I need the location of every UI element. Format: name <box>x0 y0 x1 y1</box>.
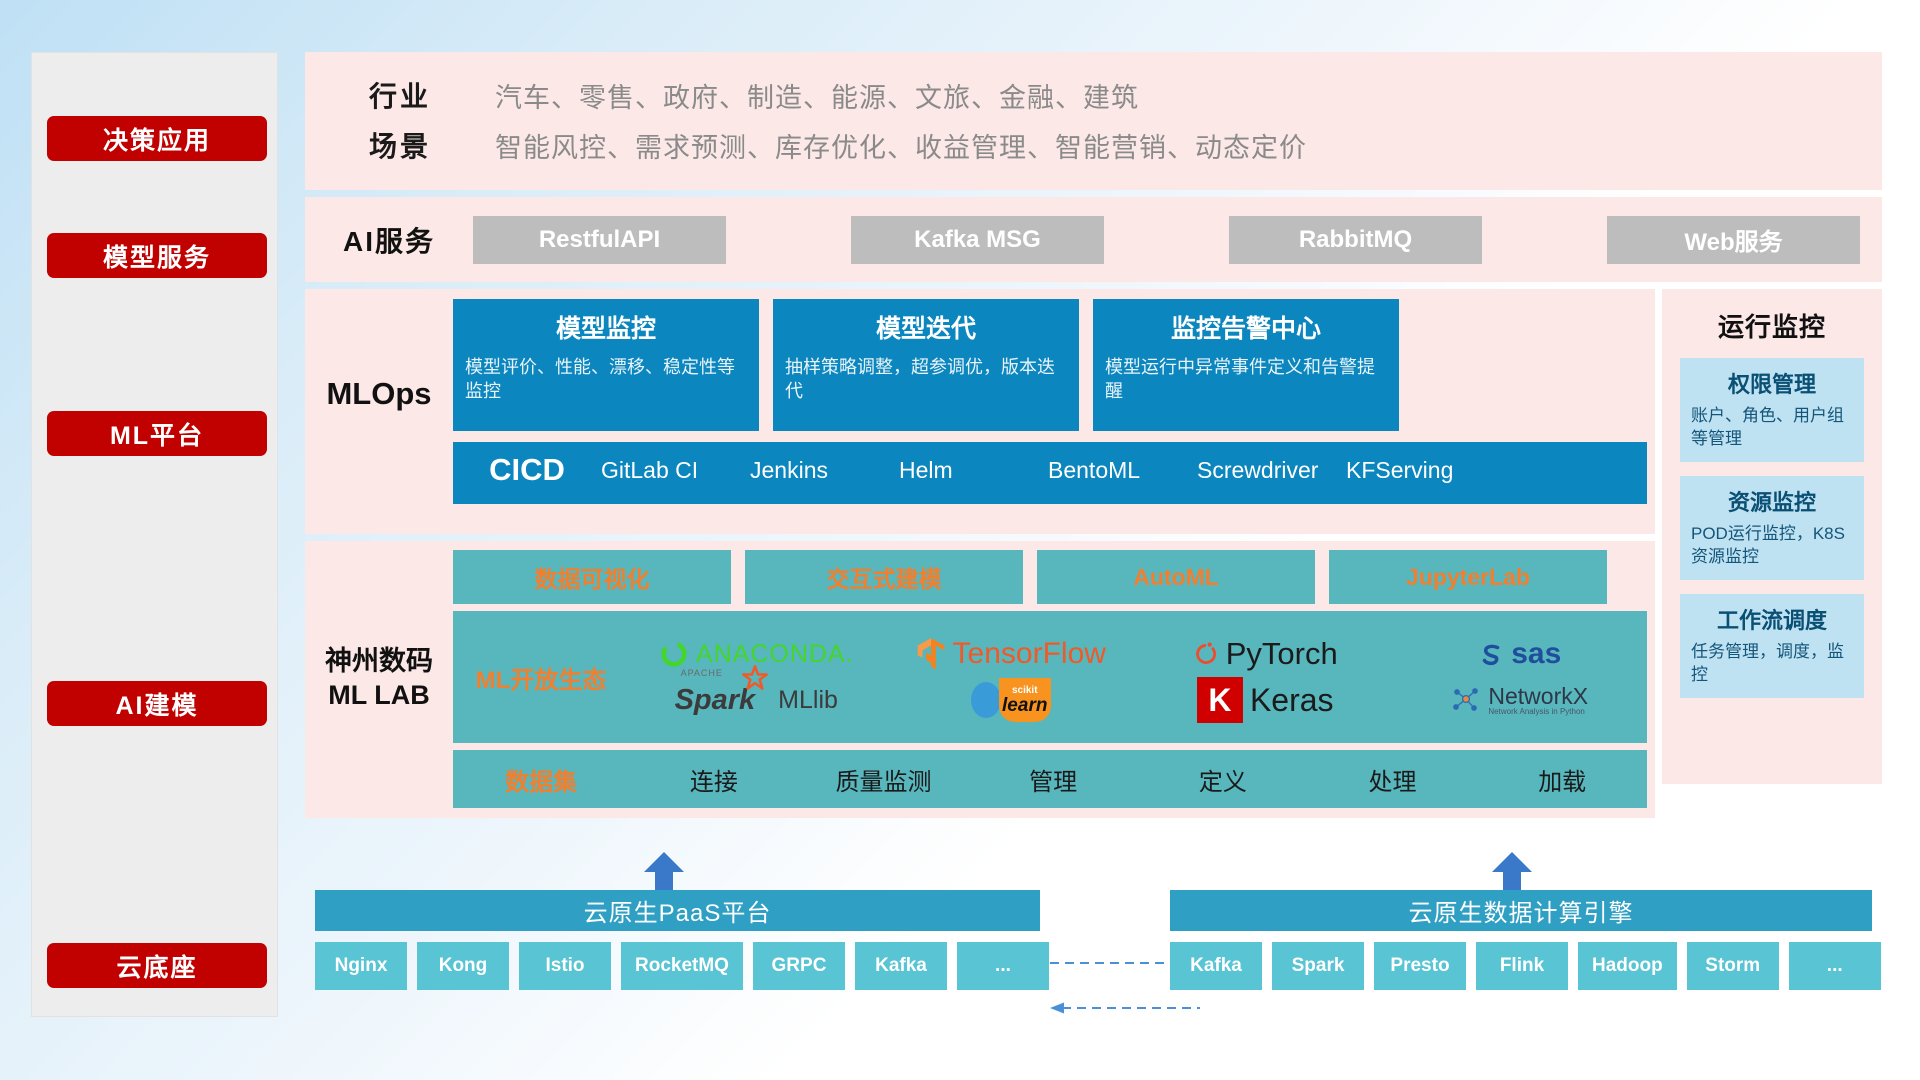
mlops-card-desc: 抽样策略调整，超参调优，版本迭代 <box>785 355 1067 404</box>
mode-list: 数据可视化 交互式建模 AutoML JupyterLab <box>453 550 1647 604</box>
dataset-item[interactable]: 质量监测 <box>799 762 969 797</box>
ai-service-chip[interactable]: RabbitMQ <box>1229 216 1482 264</box>
learn-label: learn <box>1002 696 1047 715</box>
cicd-tool[interactable]: BentoML <box>1048 442 1197 484</box>
mode-item[interactable]: JupyterLab <box>1329 550 1607 604</box>
dataset-item[interactable]: 管理 <box>968 762 1138 797</box>
engine-tag[interactable]: ... <box>1789 942 1881 990</box>
cicd-tool[interactable]: Helm <box>899 442 1048 484</box>
platform-and-monitor: MLOps 模型监控 模型评价、性能、漂移、稳定性等监控 模型迭代 抽样策略调整… <box>305 289 1882 818</box>
mlops-card[interactable]: 模型监控 模型评价、性能、漂移、稳定性等监控 <box>453 299 759 431</box>
ml-lab-label: 神州数码 ML LAB <box>305 550 453 808</box>
logo-grid: ANACONDA. TensorFlow <box>629 631 1647 723</box>
spark-mllib-icon: APACHE Spark MLlib <box>629 684 884 717</box>
cicd-bar: CICD GitLab CI Jenkins Helm BentoML Scre… <box>453 442 1647 504</box>
monitor-card-desc: POD运行监控，K8S资源监控 <box>1691 523 1853 569</box>
ml-ecosystem-bar: ML开放生态 ANACONDA. <box>453 611 1647 743</box>
ml-lab-label-line2: ML LAB <box>328 679 430 713</box>
keras-label: Keras <box>1250 682 1334 719</box>
mlops-card[interactable]: 模型迭代 抽样策略调整，超参调优，版本迭代 <box>773 299 1079 431</box>
dataset-item[interactable]: 加载 <box>1477 762 1647 797</box>
dataset-items: 连接 质量监测 管理 定义 处理 加载 <box>629 762 1647 797</box>
tensorflow-label: TensorFlow <box>953 637 1106 671</box>
architecture-diagram: 决策应用 模型服务 ML平台 AI建模 云底座 行业 汽车、零售、政府、制造、能… <box>0 0 1920 1080</box>
rail-item-ml-platform[interactable]: ML平台 <box>47 411 267 456</box>
mode-item[interactable]: 数据可视化 <box>453 550 731 604</box>
rail-label: 模型服务 <box>103 238 211 274</box>
pytorch-icon: PyTorch <box>1138 636 1393 672</box>
ai-service-chips: RestfulAPI Kafka MSG RabbitMQ Web服务 <box>473 216 1882 264</box>
engine-tag[interactable]: Storm <box>1687 942 1779 990</box>
rail-item-ai-modeling[interactable]: AI建模 <box>47 681 267 726</box>
mlops-card-desc: 模型运行中异常事件定义和告警提醒 <box>1105 355 1387 404</box>
engine-tag[interactable]: Flink <box>1476 942 1568 990</box>
mlops-card-title: 模型监控 <box>465 309 747 345</box>
mlops-card-list: 模型监控 模型评价、性能、漂移、稳定性等监控 模型迭代 抽样策略调整，超参调优，… <box>453 299 1655 431</box>
run-monitor-title: 运行监控 <box>1662 289 1882 344</box>
scikit-badge: scikit learn <box>999 678 1051 722</box>
dataset-bar: 数据集 连接 质量监测 管理 定义 处理 加载 <box>453 750 1647 808</box>
rail-label: AI建模 <box>115 686 198 722</box>
engine-tag[interactable]: Spark <box>1272 942 1364 990</box>
scikit-label: scikit <box>1012 686 1038 696</box>
ai-service-chip[interactable]: Web服务 <box>1607 216 1860 264</box>
cloud-foundation-section: 云原生PaaS平台 云原生数据计算引擎 Nginx Kong Istio Roc… <box>305 890 1882 1020</box>
cicd-tool[interactable]: KFServing <box>1346 442 1495 484</box>
paas-tag[interactable]: RocketMQ <box>621 942 743 990</box>
anaconda-label: ANACONDA. <box>696 640 854 669</box>
ai-service-chip[interactable]: Kafka MSG <box>851 216 1104 264</box>
dataset-item[interactable]: 定义 <box>1138 762 1308 797</box>
monitor-card[interactable]: 权限管理 账户、角色、用户组等管理 <box>1680 358 1864 462</box>
engine-bar[interactable]: 云原生数据计算引擎 <box>1170 890 1872 931</box>
ai-service-band: AI服务 RestfulAPI Kafka MSG RabbitMQ Web服务 <box>305 197 1882 282</box>
paas-tag-row: Nginx Kong Istio RocketMQ GRPC Kafka ... <box>315 942 1049 990</box>
rail-item-decision[interactable]: 决策应用 <box>47 116 267 161</box>
paas-tag[interactable]: Kafka <box>855 942 947 990</box>
ai-service-label: AI服务 <box>305 220 473 260</box>
mlops-card-title: 模型迭代 <box>785 309 1067 345</box>
monitor-card[interactable]: 资源监控 POD运行监控，K8S资源监控 <box>1680 476 1864 580</box>
paas-tag[interactable]: Istio <box>519 942 611 990</box>
cicd-label: CICD <box>453 442 601 488</box>
rail-label: 决策应用 <box>103 121 211 157</box>
industry-row: 行业 汽车、零售、政府、制造、能源、文旅、金融、建筑 <box>305 70 1882 120</box>
mlops-label: MLOps <box>305 299 453 431</box>
monitor-card-desc: 账户、角色、用户组等管理 <box>1691 405 1853 451</box>
mlops-band: MLOps 模型监控 模型评价、性能、漂移、稳定性等监控 模型迭代 抽样策略调整… <box>305 289 1655 534</box>
scenario-row: 场景 智能风控、需求预测、库存优化、收益管理、智能营销、动态定价 <box>305 120 1882 170</box>
ai-service-chip[interactable]: RestfulAPI <box>473 216 726 264</box>
scenario-value: 智能风控、需求预测、库存优化、收益管理、智能营销、动态定价 <box>495 126 1307 165</box>
sas-icon: sas <box>1393 637 1648 671</box>
monitor-card-title: 权限管理 <box>1691 367 1853 399</box>
mlops-card[interactable]: 监控告警中心 模型运行中异常事件定义和告警提醒 <box>1093 299 1399 431</box>
ml-lab-label-line1: 神州数码 <box>325 645 433 679</box>
tensorflow-icon: TensorFlow <box>884 637 1139 671</box>
mode-item[interactable]: 交互式建模 <box>745 550 1023 604</box>
networkx-sub: Network Analysis in Python <box>1488 708 1588 716</box>
mllib-label: MLlib <box>778 686 838 715</box>
decision-application-band: 行业 汽车、零售、政府、制造、能源、文旅、金融、建筑 场景 智能风控、需求预测、… <box>305 52 1882 190</box>
cicd-tool[interactable]: Screwdriver <box>1197 442 1346 484</box>
dataset-label: 数据集 <box>453 762 629 797</box>
keras-mark: K <box>1197 677 1243 723</box>
rail-item-model-service[interactable]: 模型服务 <box>47 233 267 278</box>
apache-label: APACHE <box>681 668 723 678</box>
scenario-label: 场景 <box>305 125 495 165</box>
networkx-label: NetworkX <box>1488 684 1588 708</box>
sas-label: sas <box>1511 637 1561 671</box>
rail-item-cloud-base[interactable]: 云底座 <box>47 943 267 988</box>
rail-label: 云底座 <box>116 948 197 984</box>
paas-bar[interactable]: 云原生PaaS平台 <box>315 890 1040 931</box>
cicd-tool[interactable]: Jenkins <box>750 442 899 484</box>
mlops-card-title: 监控告警中心 <box>1105 309 1387 345</box>
mode-item[interactable]: AutoML <box>1037 550 1315 604</box>
layer-rail: 决策应用 模型服务 ML平台 AI建模 云底座 <box>31 52 278 1017</box>
mlops-card-desc: 模型评价、性能、漂移、稳定性等监控 <box>465 355 747 404</box>
engine-tag[interactable]: Kafka <box>1170 942 1262 990</box>
dataset-item[interactable]: 处理 <box>1308 762 1478 797</box>
rail-label: ML平台 <box>110 416 204 452</box>
engine-tag[interactable]: Presto <box>1374 942 1466 990</box>
paas-tag[interactable]: GRPC <box>753 942 845 990</box>
cicd-tool[interactable]: GitLab CI <box>601 442 750 484</box>
main-column: 行业 汽车、零售、政府、制造、能源、文旅、金融、建筑 场景 智能风控、需求预测、… <box>305 52 1882 818</box>
monitor-card-title: 工作流调度 <box>1691 603 1853 635</box>
pytorch-label: PyTorch <box>1226 636 1338 672</box>
ai-modeling-band: 神州数码 ML LAB 数据可视化 交互式建模 AutoML JupyterLa… <box>305 541 1655 818</box>
dataset-item[interactable]: 连接 <box>629 762 799 797</box>
paas-tag[interactable]: Kong <box>417 942 509 990</box>
paas-tag[interactable]: Nginx <box>315 942 407 990</box>
scikit-learn-icon: scikit learn <box>884 678 1139 722</box>
monitor-card-title: 资源监控 <box>1691 485 1853 517</box>
engine-tag-row: Kafka Spark Presto Flink Hadoop Storm ..… <box>1170 942 1881 990</box>
industry-value: 汽车、零售、政府、制造、能源、文旅、金融、建筑 <box>495 76 1139 115</box>
engine-tag[interactable]: Hadoop <box>1578 942 1677 990</box>
paas-tag[interactable]: ... <box>957 942 1049 990</box>
ml-ecosystem-label: ML开放生态 <box>453 660 629 695</box>
monitor-card-desc: 任务管理，调度，监控 <box>1691 641 1853 687</box>
networkx-icon: NetworkX Network Analysis in Python <box>1393 684 1648 717</box>
keras-icon: K Keras <box>1138 677 1393 723</box>
industry-label: 行业 <box>305 75 495 115</box>
monitor-card[interactable]: 工作流调度 任务管理，调度，监控 <box>1680 594 1864 698</box>
scikit-blob <box>971 682 1001 718</box>
run-monitor-panel: 运行监控 权限管理 账户、角色、用户组等管理 资源监控 POD运行监控，K8S资… <box>1662 289 1882 784</box>
